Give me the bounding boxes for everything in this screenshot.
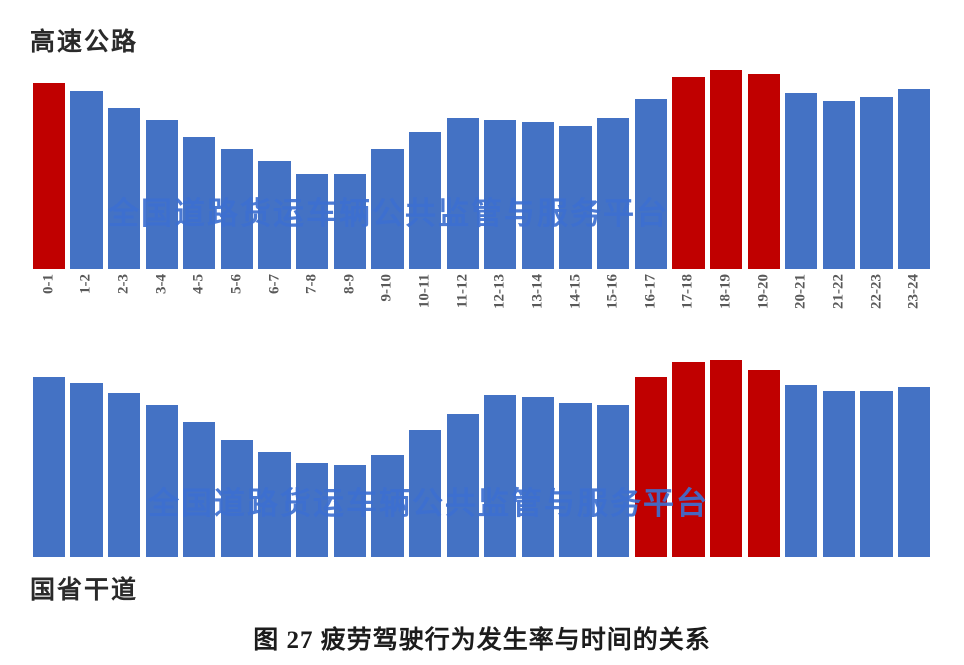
bar-national-road-20-21[interactable] — [785, 385, 817, 557]
bar-slot — [218, 352, 256, 557]
bar-slot — [632, 352, 670, 557]
bar-slot — [745, 62, 783, 269]
bar-national-road-5-6[interactable] — [221, 440, 253, 557]
bar-highway-1-2[interactable] — [70, 91, 102, 269]
bar-national-road-4-5[interactable] — [183, 422, 215, 557]
chart-national-provincial-road — [30, 352, 933, 557]
bar-highway-20-21[interactable] — [785, 93, 817, 269]
bar-national-road-1-2[interactable] — [70, 383, 102, 557]
bar-highway-19-20[interactable] — [748, 74, 780, 269]
bar-slot — [406, 352, 444, 557]
tick-label-7-8: 7-8 — [304, 274, 321, 294]
tick-label-8-9: 8-9 — [341, 274, 358, 294]
figure-caption: 图 27 疲劳驾驶行为发生率与时间的关系 — [0, 620, 964, 656]
bar-slot — [444, 352, 482, 557]
tick-slot: 13-14 — [519, 272, 557, 334]
tick-slot: 21-22 — [820, 272, 858, 334]
bar-highway-8-9[interactable] — [334, 174, 366, 269]
tick-slot: 9-10 — [369, 272, 407, 334]
bar-national-road-15-16[interactable] — [597, 405, 629, 557]
bar-national-road-16-17[interactable] — [635, 377, 667, 557]
bar-slot — [30, 62, 68, 269]
bar-slot — [482, 352, 520, 557]
bar-slot — [895, 352, 933, 557]
bar-national-road-2-3[interactable] — [108, 393, 140, 557]
bar-national-road-23-24[interactable] — [898, 387, 930, 557]
bar-slot — [68, 62, 106, 269]
tick-label-6-7: 6-7 — [266, 274, 283, 294]
bar-national-road-10-11[interactable] — [409, 430, 441, 557]
bar-slot — [557, 352, 595, 557]
tick-label-9-10: 9-10 — [379, 274, 396, 302]
bar-national-road-21-22[interactable] — [823, 391, 855, 557]
tick-slot: 12-13 — [482, 272, 520, 334]
bar-slot — [594, 352, 632, 557]
tick-slot: 14-15 — [557, 272, 595, 334]
bar-highway-12-13[interactable] — [484, 120, 516, 269]
bar-highway-22-23[interactable] — [860, 97, 892, 269]
bar-highway-7-8[interactable] — [296, 174, 328, 269]
bar-highway-13-14[interactable] — [522, 122, 554, 269]
bar-national-road-8-9[interactable] — [334, 465, 366, 557]
bar-national-road-7-8[interactable] — [296, 463, 328, 557]
bar-slot — [519, 352, 557, 557]
bar-slot — [482, 62, 520, 269]
tick-label-19-20: 19-20 — [755, 274, 772, 309]
tick-label-13-14: 13-14 — [529, 274, 546, 309]
bar-slot — [557, 62, 595, 269]
bar-slot — [670, 352, 708, 557]
tick-slot: 20-21 — [783, 272, 821, 334]
bar-national-road-3-4[interactable] — [146, 405, 178, 557]
bar-slot — [858, 352, 896, 557]
bar-national-road-19-20[interactable] — [748, 370, 780, 557]
bar-group-national-provincial-road — [30, 352, 933, 557]
bar-slot — [895, 62, 933, 269]
bar-highway-0-1[interactable] — [33, 83, 65, 269]
bar-slot — [68, 352, 106, 557]
tick-label-21-22: 21-22 — [830, 274, 847, 309]
tick-slot: 6-7 — [256, 272, 294, 334]
bar-national-road-0-1[interactable] — [33, 377, 65, 557]
panel-title-national-provincial-road: 国省干道 — [30, 570, 138, 606]
figure-container: 高速公路 全国道路货运车辆公共监管与服务平台 0-11-22-33-44-55-… — [0, 0, 964, 665]
bar-slot — [783, 352, 821, 557]
tick-slot: 1-2 — [68, 272, 106, 334]
tick-slot: 0-1 — [30, 272, 68, 334]
tick-label-16-17: 16-17 — [642, 274, 659, 309]
bar-slot — [632, 62, 670, 269]
bar-slot — [105, 62, 143, 269]
bar-slot — [707, 62, 745, 269]
tick-label-1-2: 1-2 — [78, 274, 95, 294]
bar-slot — [30, 352, 68, 557]
tick-label-10-11: 10-11 — [417, 274, 434, 308]
panel-title-highway: 高速公路 — [30, 22, 138, 58]
bar-highway-6-7[interactable] — [258, 161, 290, 269]
tick-slot: 23-24 — [895, 272, 933, 334]
bar-highway-11-12[interactable] — [447, 118, 479, 269]
tick-slot: 19-20 — [745, 272, 783, 334]
bar-national-road-11-12[interactable] — [447, 414, 479, 558]
chart-highway — [30, 62, 933, 269]
bar-slot — [820, 62, 858, 269]
bar-slot — [331, 62, 369, 269]
tick-label-20-21: 20-21 — [793, 274, 810, 309]
bar-slot — [105, 352, 143, 557]
bar-slot — [218, 62, 256, 269]
tick-label-12-13: 12-13 — [492, 274, 509, 309]
bar-national-road-18-19[interactable] — [710, 360, 742, 557]
bar-national-road-14-15[interactable] — [559, 403, 591, 557]
tick-slot: 2-3 — [105, 272, 143, 334]
tick-slot: 11-12 — [444, 272, 482, 334]
bar-slot — [406, 62, 444, 269]
tick-slot: 15-16 — [594, 272, 632, 334]
bar-highway-2-3[interactable] — [108, 108, 140, 269]
bar-slot — [331, 352, 369, 557]
tick-slot: 10-11 — [406, 272, 444, 334]
tick-slot: 18-19 — [707, 272, 745, 334]
bar-highway-9-10[interactable] — [371, 149, 403, 269]
tick-label-11-12: 11-12 — [454, 274, 471, 308]
tick-slot: 17-18 — [670, 272, 708, 334]
bar-slot — [707, 352, 745, 557]
bar-highway-16-17[interactable] — [635, 99, 667, 269]
bar-slot — [519, 62, 557, 269]
bar-highway-3-4[interactable] — [146, 120, 178, 269]
bar-highway-4-5[interactable] — [183, 137, 215, 269]
tick-slot: 3-4 — [143, 272, 181, 334]
tick-label-3-4: 3-4 — [153, 274, 170, 294]
bar-slot — [256, 62, 294, 269]
bar-highway-18-19[interactable] — [710, 70, 742, 269]
bar-slot — [256, 352, 294, 557]
bar-group-highway — [30, 62, 933, 269]
bar-slot — [858, 62, 896, 269]
tick-slot: 7-8 — [293, 272, 331, 334]
bar-slot — [293, 62, 331, 269]
tick-label-2-3: 2-3 — [116, 274, 133, 294]
bar-slot — [745, 352, 783, 557]
bar-national-road-13-14[interactable] — [522, 397, 554, 557]
bar-slot — [181, 352, 219, 557]
tick-slot: 5-6 — [218, 272, 256, 334]
tick-label-18-19: 18-19 — [718, 274, 735, 309]
tick-slot: 16-17 — [632, 272, 670, 334]
bar-slot — [143, 352, 181, 557]
bar-slot — [181, 62, 219, 269]
bar-slot — [670, 62, 708, 269]
bar-slot — [444, 62, 482, 269]
tick-slot: 8-9 — [331, 272, 369, 334]
x-axis-tick-labels: 0-11-22-33-44-55-66-77-88-99-1010-1111-1… — [30, 272, 933, 334]
bar-national-road-9-10[interactable] — [371, 455, 403, 558]
bar-slot — [594, 62, 632, 269]
bar-slot — [369, 62, 407, 269]
bar-slot — [293, 352, 331, 557]
bar-slot — [783, 62, 821, 269]
tick-slot: 22-23 — [858, 272, 896, 334]
bar-highway-14-15[interactable] — [559, 126, 591, 269]
bar-national-road-22-23[interactable] — [860, 391, 892, 557]
tick-slot: 4-5 — [181, 272, 219, 334]
bar-national-road-17-18[interactable] — [672, 362, 704, 557]
bar-highway-21-22[interactable] — [823, 101, 855, 269]
tick-label-23-24: 23-24 — [906, 274, 923, 309]
bar-slot — [820, 352, 858, 557]
bar-highway-15-16[interactable] — [597, 118, 629, 269]
bar-slot — [143, 62, 181, 269]
bar-national-road-12-13[interactable] — [484, 395, 516, 557]
tick-label-5-6: 5-6 — [228, 274, 245, 294]
tick-label-4-5: 4-5 — [191, 274, 208, 294]
bar-slot — [369, 352, 407, 557]
bar-national-road-6-7[interactable] — [258, 452, 290, 557]
tick-label-17-18: 17-18 — [680, 274, 697, 309]
bar-highway-10-11[interactable] — [409, 132, 441, 269]
bar-highway-23-24[interactable] — [898, 89, 930, 269]
bar-highway-17-18[interactable] — [672, 77, 704, 270]
tick-label-22-23: 22-23 — [868, 274, 885, 309]
tick-label-15-16: 15-16 — [605, 274, 622, 309]
tick-label-14-15: 14-15 — [567, 274, 584, 309]
bar-highway-5-6[interactable] — [221, 149, 253, 269]
tick-label-0-1: 0-1 — [40, 274, 57, 294]
